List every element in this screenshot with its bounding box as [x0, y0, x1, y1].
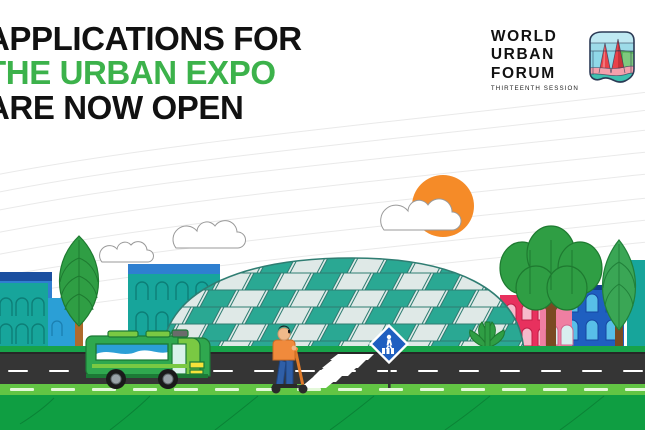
logo-session-label: THIRTEENTH SESSION [491, 85, 579, 92]
headline-line-2: THE URBAN EXPO [0, 56, 326, 90]
logo-word-forum: FORUM [491, 65, 556, 83]
headline-block: APPLICATIONS FOR THE URBAN EXPO ARE NOW … [0, 22, 326, 125]
world-urban-forum-logo: WORLD URBAN FORUM THIRTEENTH SESSION [491, 28, 637, 92]
poster-canvas: APPLICATIONS FOR THE URBAN EXPO ARE NOW … [0, 0, 645, 430]
headline-line-1: APPLICATIONS FOR [0, 22, 326, 56]
logo-word-world: WORLD [491, 28, 558, 46]
logo-word-urban: URBAN [491, 46, 555, 64]
wuf-sails-emblem [585, 29, 637, 91]
headline-line-3: ARE NOW OPEN [0, 91, 326, 125]
logo-wordmark: WORLD URBAN FORUM THIRTEENTH SESSION [491, 28, 579, 92]
